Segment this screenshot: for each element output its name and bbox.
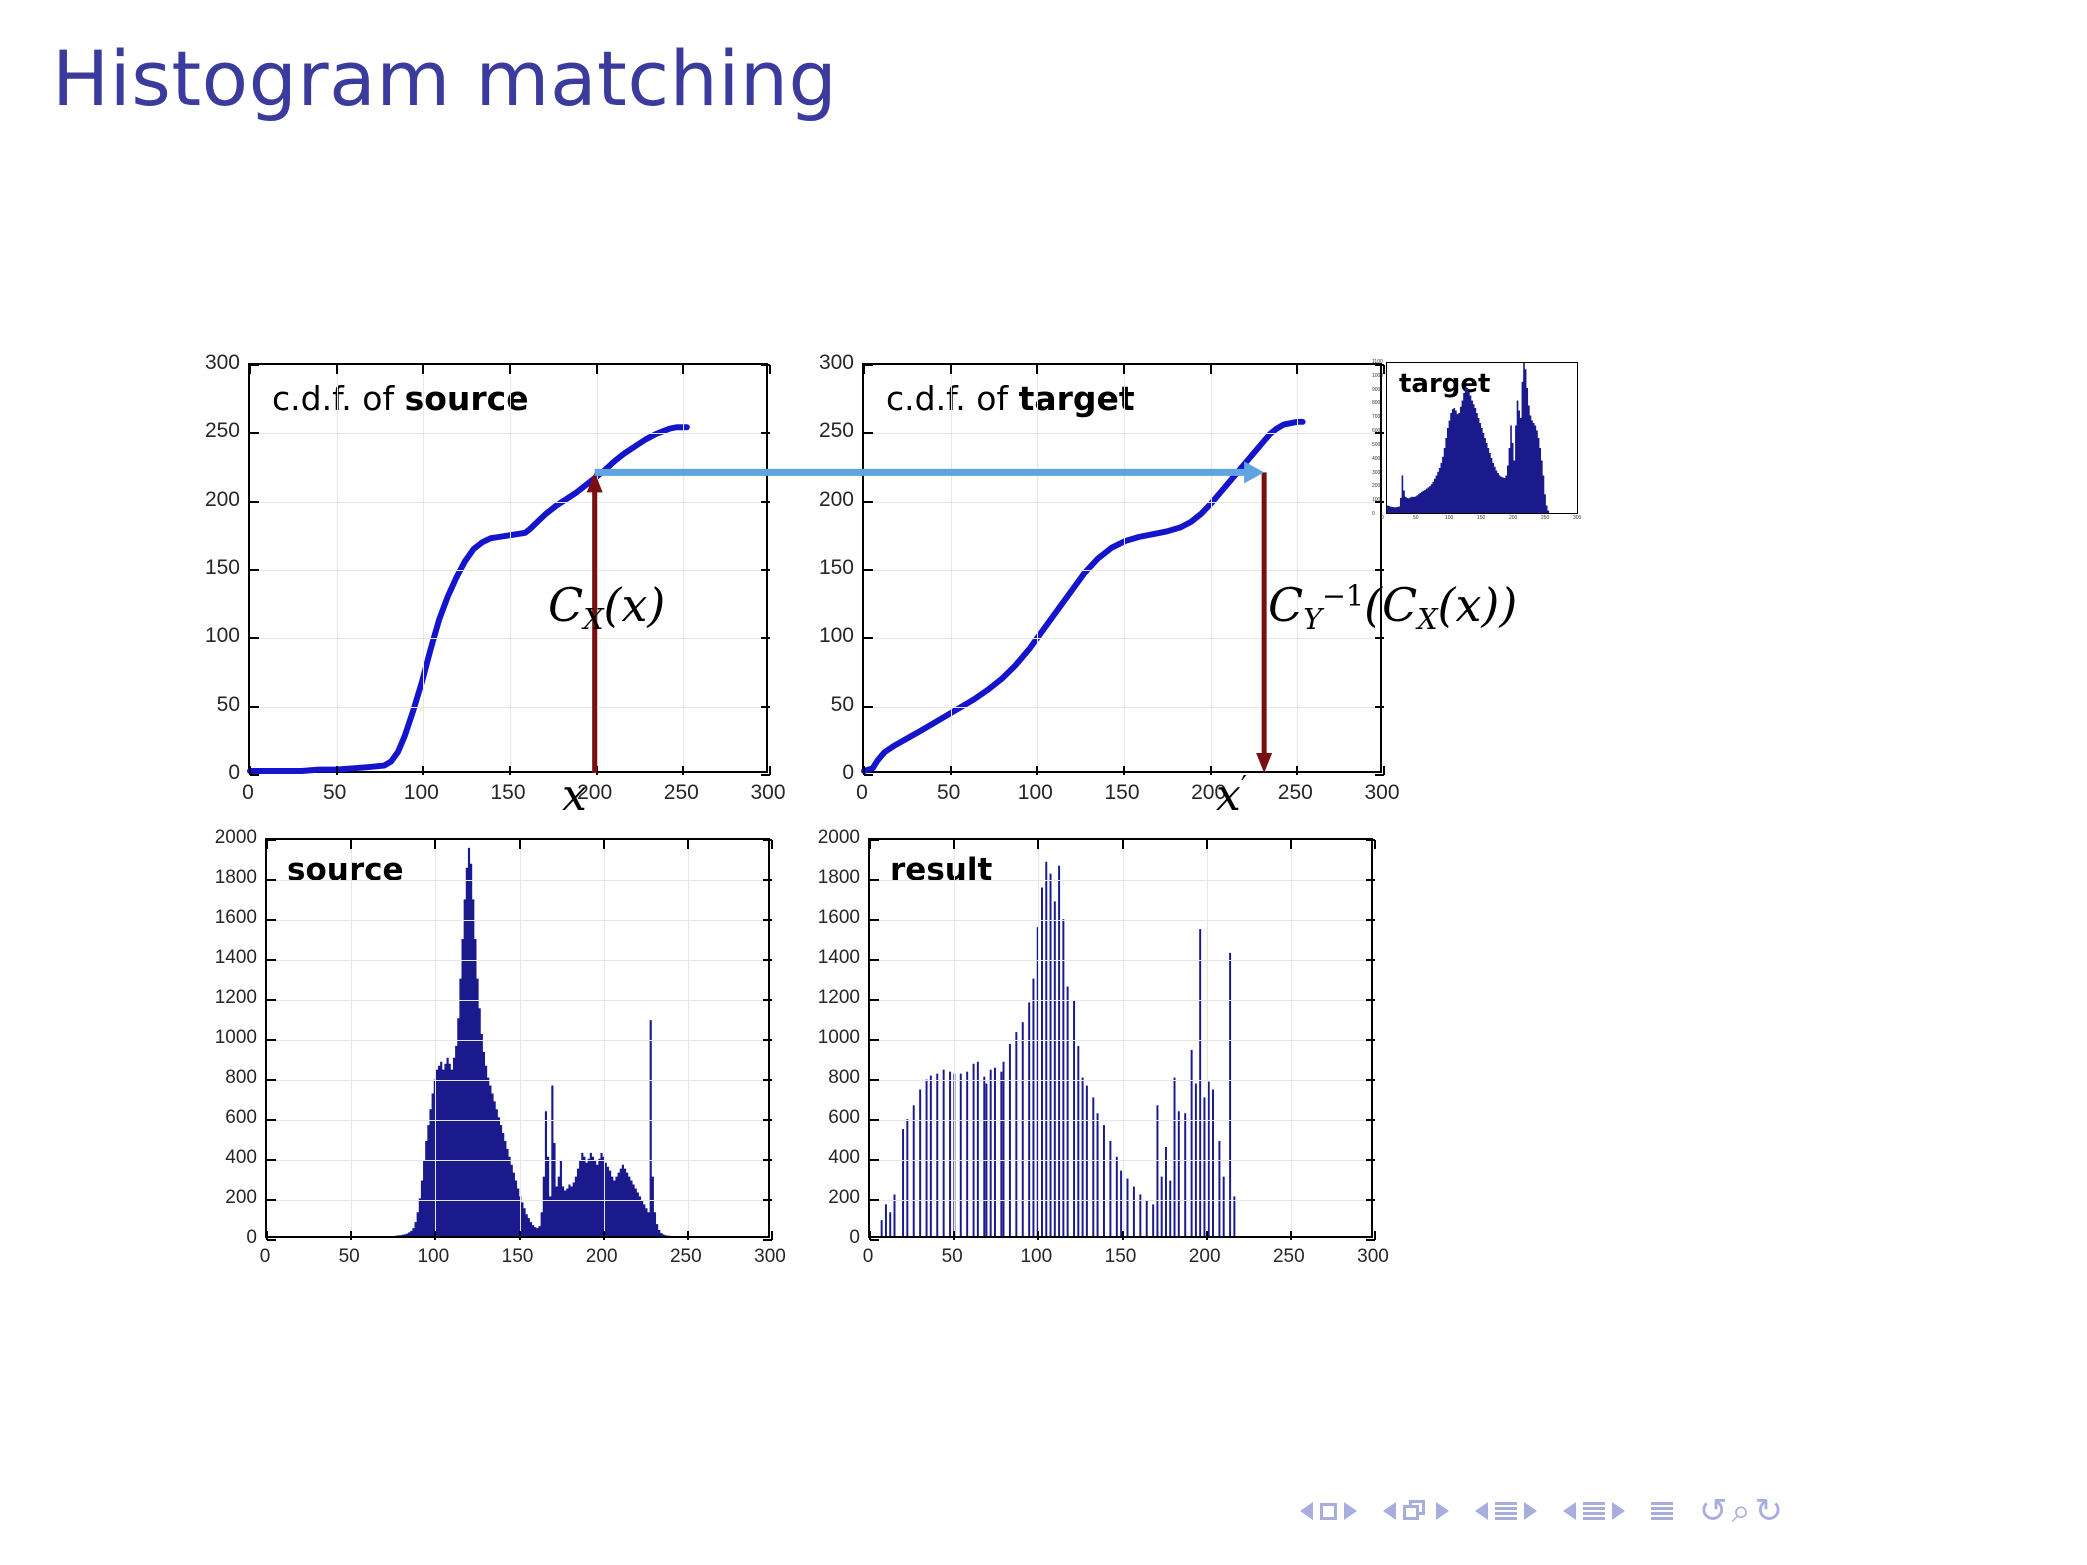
x-tick-label: 300 [1357, 1246, 1389, 1268]
target-thumb-bars [1387, 363, 1577, 513]
thumb-y-tick-label: 0 [1372, 511, 1375, 517]
cdf-target-plot: c.d.f. of target [862, 363, 1382, 773]
y-tick-label: 200 [810, 1187, 860, 1209]
x-tick-label: 100 [404, 781, 439, 805]
x-tick-label: 300 [1364, 781, 1399, 805]
x-tick-label: 300 [750, 781, 785, 805]
y-tick-label: 100 [804, 624, 854, 648]
y-tick-label: 0 [804, 761, 854, 785]
y-tick-label: 1800 [810, 867, 860, 889]
x-tick-label: 50 [339, 1246, 360, 1268]
y-tick-label: 800 [207, 1067, 257, 1089]
x-tick-label: 50 [323, 781, 346, 805]
thumb-y-tick-label: 800 [1372, 400, 1380, 406]
y-tick-label: 1400 [207, 947, 257, 969]
x-tick-label: 100 [417, 1246, 449, 1268]
cdf-target-curve [864, 365, 1380, 771]
cdf-source-curve [250, 365, 766, 771]
y-tick-label: 200 [804, 488, 854, 512]
thumb-y-tick-label: 600 [1372, 428, 1380, 434]
x-tick-label: 300 [754, 1246, 786, 1268]
back-icon[interactable]: ↺ [1699, 1494, 1728, 1528]
prev-subsection-icon[interactable] [1475, 1502, 1488, 1520]
y-tick-label: 0 [190, 761, 240, 785]
y-tick-label: 250 [190, 419, 240, 443]
y-tick-label: 300 [190, 351, 240, 375]
y-tick-label: 2000 [207, 827, 257, 849]
prev-frame-icon[interactable] [1383, 1502, 1396, 1520]
frames-icon[interactable] [1403, 1500, 1429, 1522]
nav-subsection-group[interactable] [1475, 1502, 1537, 1520]
nav-section-group[interactable] [1563, 1502, 1625, 1520]
x-tick-label: 250 [1278, 781, 1313, 805]
y-tick-label: 0 [810, 1227, 860, 1249]
thumb-x-tick-label: 200 [1509, 515, 1517, 521]
nav-slide-group[interactable] [1300, 1502, 1357, 1520]
x-tick-label: 200 [1189, 1246, 1221, 1268]
thumb-y-tick-label: 1000 [1372, 373, 1383, 379]
x-tick-label: 250 [670, 1246, 702, 1268]
thumb-y-tick-label: 900 [1372, 387, 1380, 393]
next-subsection-icon[interactable] [1524, 1502, 1537, 1520]
thumb-x-tick-label: 150 [1477, 515, 1485, 521]
y-tick-label: 300 [804, 351, 854, 375]
target-histogram-thumbnail: target [1386, 362, 1578, 514]
y-tick-label: 1600 [810, 907, 860, 929]
y-tick-label: 600 [207, 1107, 257, 1129]
y-tick-label: 600 [810, 1107, 860, 1129]
cdf-target-value-label: CY−1(CX(x)) [1268, 578, 1517, 636]
x-tick-label: 50 [937, 781, 960, 805]
result-histogram-plot: result [868, 838, 1373, 1238]
beamer-navigation-bar[interactable]: ↺ ⌕ ↻ [1300, 1488, 1809, 1534]
x-tick-label: 0 [260, 1246, 271, 1268]
x-axis-symbol: x [562, 770, 587, 821]
x-tick-label: 0 [242, 781, 254, 805]
nav-document-group[interactable] [1651, 1502, 1673, 1520]
x-tick-label: 150 [490, 781, 525, 805]
thumb-x-tick-label: 50 [1413, 515, 1419, 521]
prev-section-icon[interactable] [1563, 1502, 1576, 1520]
next-slide-icon[interactable] [1344, 1502, 1357, 1520]
slide-root: Histogram matching c.d.f. of source 0501… [0, 0, 2087, 1565]
nav-history-group[interactable]: ↺ ⌕ ↻ [1699, 1494, 1783, 1528]
y-tick-label: 50 [190, 693, 240, 717]
y-tick-label: 1000 [810, 1027, 860, 1049]
x-tick-label: 150 [1104, 781, 1139, 805]
thumb-y-tick-label: 300 [1372, 470, 1380, 476]
x-tick-label: 150 [502, 1246, 534, 1268]
y-tick-label: 1000 [207, 1027, 257, 1049]
next-frame-icon[interactable] [1436, 1502, 1449, 1520]
y-tick-label: 150 [190, 556, 240, 580]
slide-icon[interactable] [1320, 1503, 1337, 1520]
y-tick-label: 50 [804, 693, 854, 717]
y-tick-label: 1400 [810, 947, 860, 969]
document-icon[interactable] [1651, 1502, 1673, 1520]
x-tick-label: 100 [1018, 781, 1053, 805]
y-tick-label: 400 [810, 1147, 860, 1169]
x-tick-label: 150 [1105, 1246, 1137, 1268]
y-tick-label: 200 [207, 1187, 257, 1209]
thumb-y-tick-label: 100 [1372, 497, 1380, 503]
search-icon[interactable]: ⌕ [1732, 1494, 1751, 1528]
y-tick-label: 400 [207, 1147, 257, 1169]
y-tick-label: 100 [190, 624, 240, 648]
y-tick-label: 150 [804, 556, 854, 580]
x-tick-label: 250 [664, 781, 699, 805]
thumb-x-tick-label: 100 [1445, 515, 1453, 521]
y-tick-label: 1200 [207, 987, 257, 1009]
nav-frame-group[interactable] [1383, 1500, 1449, 1522]
result-histogram-bars [870, 840, 1371, 1236]
x-tick-label: 200 [586, 1246, 618, 1268]
y-tick-label: 1600 [207, 907, 257, 929]
thumb-y-tick-label: 200 [1372, 483, 1380, 489]
thumb-x-tick-label: 250 [1541, 515, 1549, 521]
subsection-icon[interactable] [1495, 1502, 1517, 1520]
y-tick-label: 250 [804, 419, 854, 443]
thumb-x-tick-label: 300 [1573, 515, 1581, 521]
page-title: Histogram matching [52, 34, 837, 123]
y-tick-label: 0 [207, 1227, 257, 1249]
cdf-source-value-label: CX(x) [548, 578, 665, 636]
forward-icon[interactable]: ↻ [1755, 1494, 1784, 1528]
x-tick-label: 0 [863, 1246, 874, 1268]
next-section-icon[interactable] [1612, 1502, 1625, 1520]
y-tick-label: 800 [810, 1067, 860, 1089]
section-icon[interactable] [1583, 1502, 1605, 1520]
x-tick-label: 100 [1020, 1246, 1052, 1268]
cdf-source-plot: c.d.f. of source [248, 363, 768, 773]
x-tick-label: 250 [1273, 1246, 1305, 1268]
thumb-y-tick-label: 500 [1372, 442, 1380, 448]
thumb-y-tick-label: 1100 [1372, 359, 1383, 365]
thumb-y-tick-label: 400 [1372, 456, 1380, 462]
y-tick-label: 1800 [207, 867, 257, 889]
prev-slide-icon[interactable] [1300, 1502, 1313, 1520]
source-histogram-plot: source [265, 838, 770, 1238]
thumb-y-tick-label: 700 [1372, 414, 1380, 420]
x-tick-label: 0 [856, 781, 868, 805]
x-tick-label: 50 [942, 1246, 963, 1268]
thumb-x-tick-label: 0 [1381, 515, 1384, 521]
y-tick-label: 2000 [810, 827, 860, 849]
y-tick-label: 1200 [810, 987, 860, 1009]
source-histogram-bars [267, 840, 768, 1236]
y-tick-label: 200 [190, 488, 240, 512]
xprime-axis-symbol: x′ [1216, 770, 1247, 821]
